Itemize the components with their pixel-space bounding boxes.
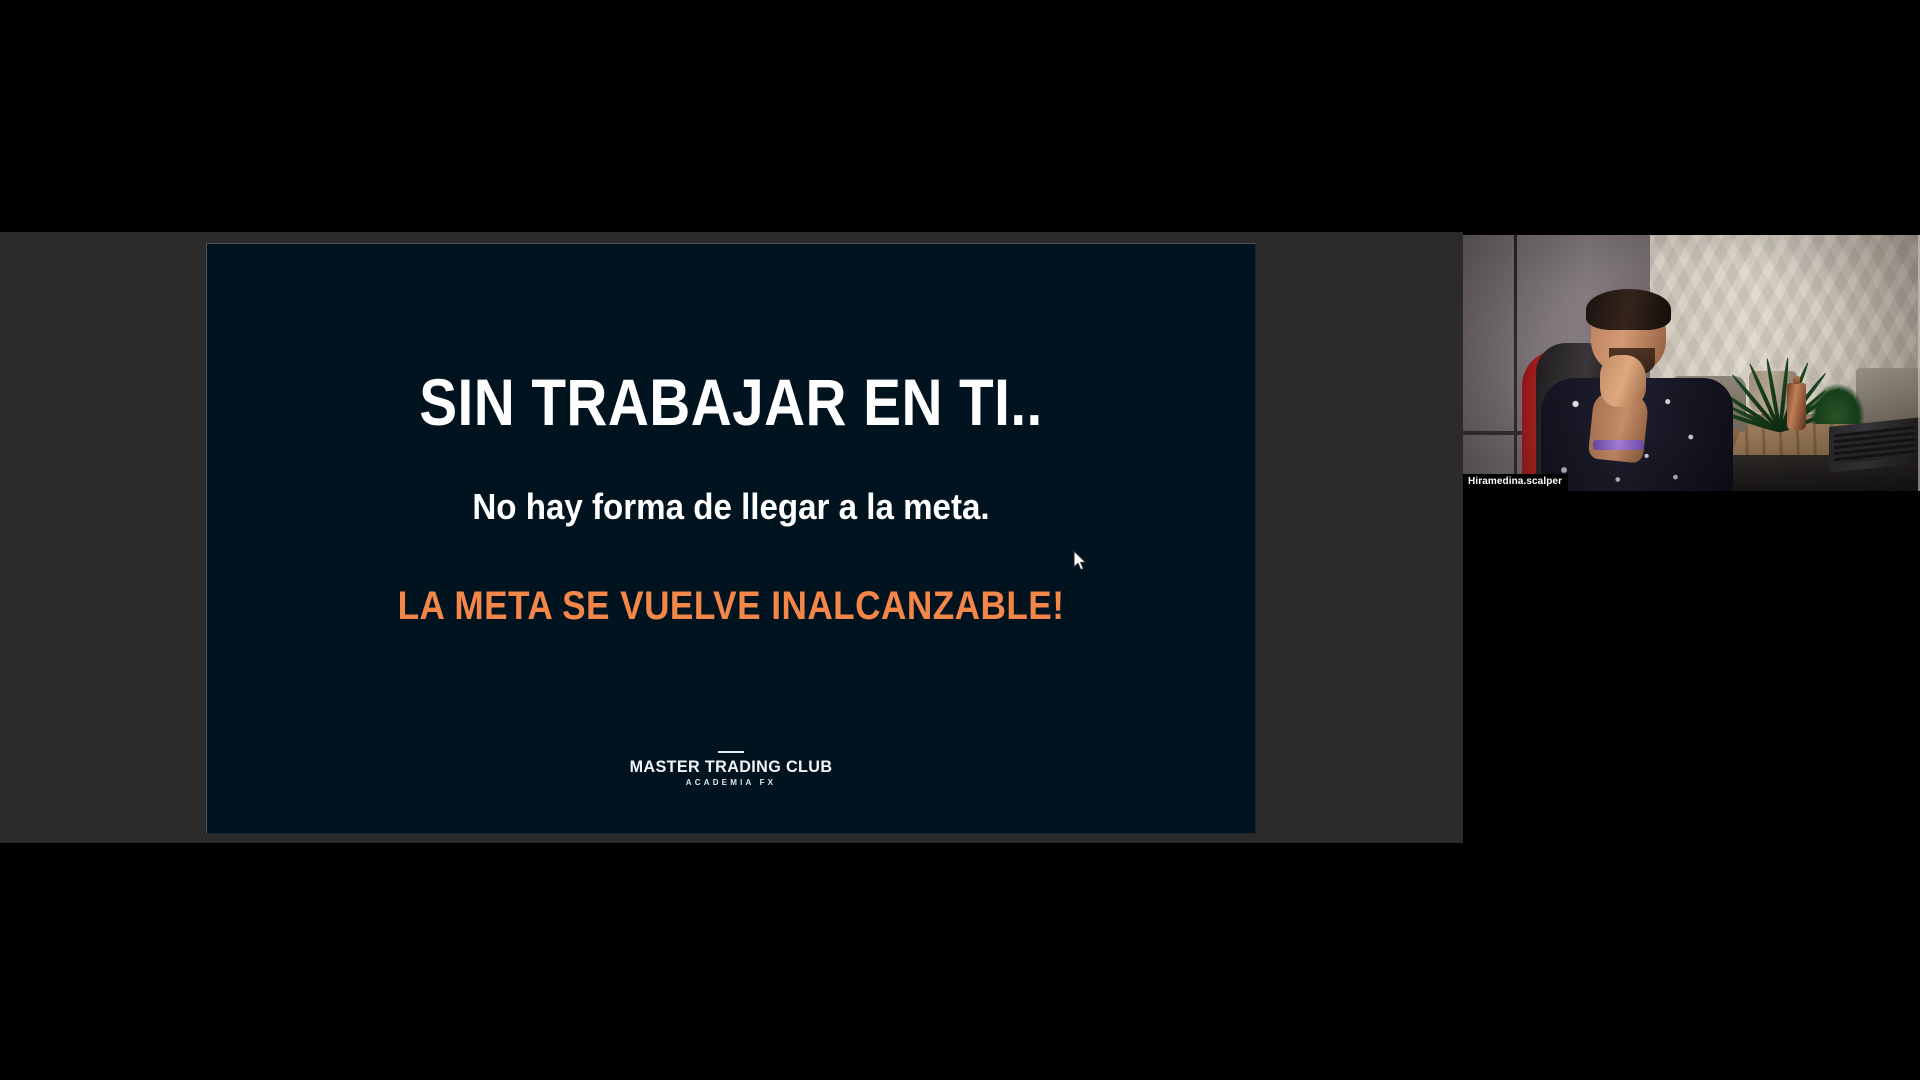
slide-highlight-text: LA META SE VUELVE INALCANZABLE! bbox=[270, 586, 1192, 626]
participant-name-label: Hiramedina.scalper bbox=[1463, 474, 1568, 491]
screen-root: SIN TRABAJAR EN TI.. No hay forma de lle… bbox=[0, 0, 1920, 1080]
logo-divider-line bbox=[718, 751, 744, 753]
presentation-slide[interactable]: SIN TRABAJAR EN TI.. No hay forma de lle… bbox=[206, 243, 1256, 834]
logo-brand-name: MASTER TRADING CLUB bbox=[233, 758, 1229, 776]
brand-logo: MASTER TRADING CLUB ACADEMIA FX bbox=[207, 751, 1255, 787]
slide-content: SIN TRABAJAR EN TI.. No hay forma de lle… bbox=[207, 244, 1255, 833]
logo-tagline: ACADEMIA FX bbox=[207, 778, 1255, 787]
slide-title: SIN TRABAJAR EN TI.. bbox=[280, 369, 1181, 435]
slide-subtitle: No hay forma de llegar a la meta. bbox=[249, 489, 1213, 525]
video-vignette-overlay bbox=[1463, 235, 1920, 491]
participant-video-tile[interactable]: Hiramedina.scalper bbox=[1463, 235, 1920, 491]
